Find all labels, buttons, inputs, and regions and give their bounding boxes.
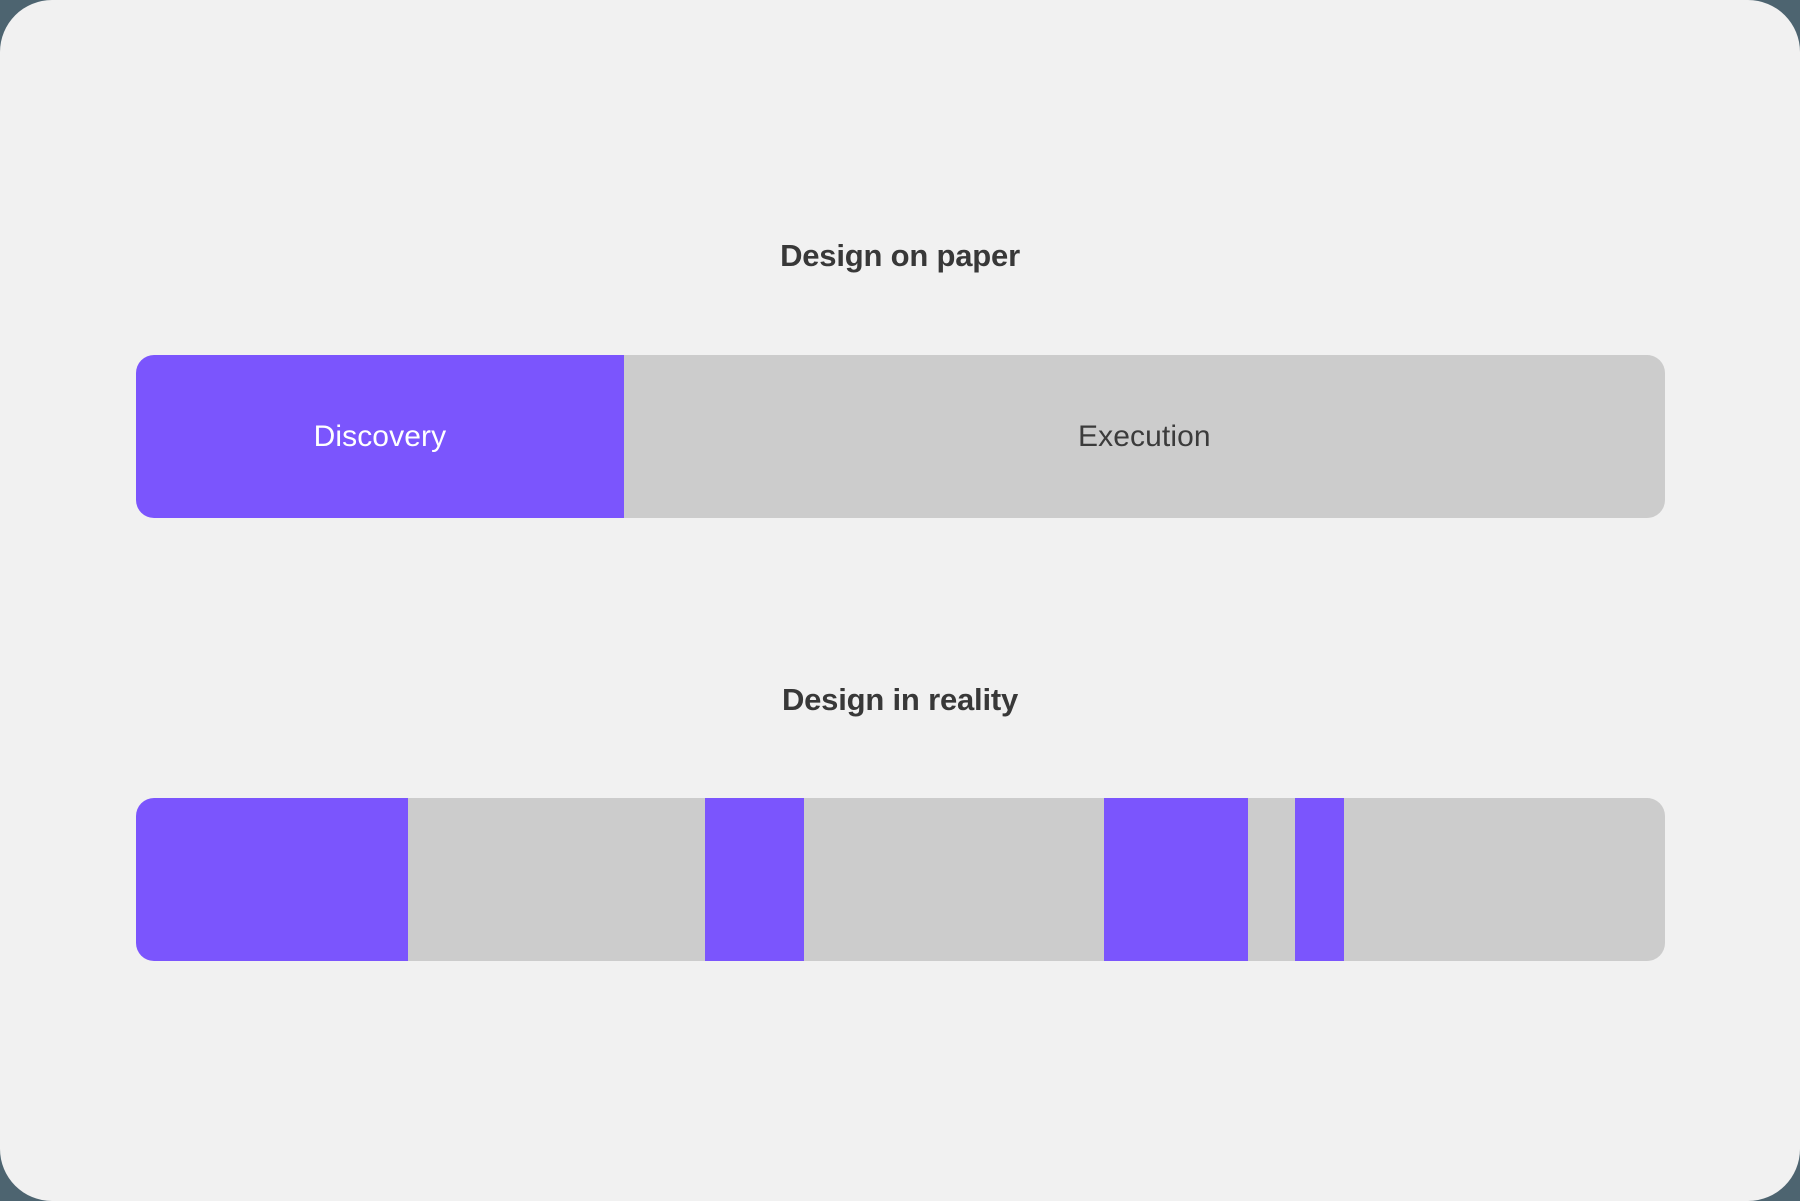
bar-segment-execution [1248, 798, 1295, 961]
bar-segment-label: Discovery [314, 420, 447, 454]
section-design-in-reality: Design in reality [0, 680, 1800, 720]
bar-segment-discovery: Discovery [136, 355, 624, 518]
bar-segment-execution [1344, 798, 1665, 961]
section-design-on-paper: Design on paper DiscoveryExecution [0, 236, 1800, 276]
bar-segment-discovery [705, 798, 804, 961]
bar-segment-discovery [1295, 798, 1344, 961]
stacked-bar-design-on-paper: DiscoveryExecution [136, 355, 1665, 518]
slide-canvas: Design on paper DiscoveryExecution Desig… [0, 0, 1800, 1201]
stacked-bar-design-in-reality [136, 798, 1665, 961]
page-title-design-in-reality: Design in reality [0, 680, 1800, 720]
page-title-design-on-paper: Design on paper [0, 236, 1800, 276]
bar-segment-label: Execution [1078, 420, 1211, 454]
bar-segment-discovery [136, 798, 408, 961]
bar-segment-execution: Execution [624, 355, 1665, 518]
bar-segment-execution [408, 798, 705, 961]
bar-segment-execution [804, 798, 1104, 961]
bar-segment-discovery [1104, 798, 1248, 961]
